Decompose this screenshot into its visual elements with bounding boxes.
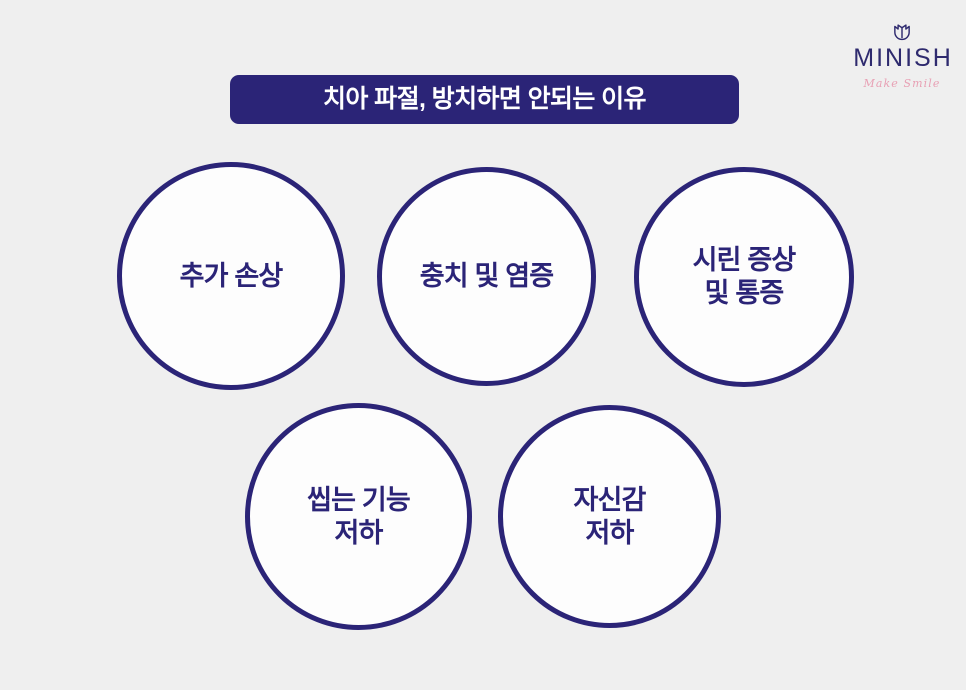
- page-title: 치아 파절, 방치하면 안되는 이유: [323, 87, 646, 112]
- title-banner: 치아 파절, 방치하면 안되는 이유: [230, 75, 739, 124]
- circle-label: 자신감 저하: [563, 484, 655, 550]
- tulip-icon: [889, 18, 915, 44]
- infographic-canvas: MINISH Make Smile 치아 파절, 방치하면 안되는 이유 추가 …: [0, 0, 966, 690]
- circle-item-confidence-decline: 자신감 저하: [498, 405, 721, 628]
- brand-logo: MINISH Make Smile: [846, 18, 958, 98]
- brand-wordmark: MINISH: [846, 46, 958, 71]
- circle-label: 추가 손상: [170, 260, 293, 293]
- circle-label: 시린 증상 및 통증: [683, 244, 806, 310]
- circle-item-additional-damage: 추가 손상: [117, 162, 345, 390]
- circle-item-sensitivity-pain: 시린 증상 및 통증: [634, 167, 854, 387]
- brand-tagline: Make Smile: [846, 78, 958, 89]
- circle-label: 씹는 기능 저하: [297, 484, 420, 550]
- circle-item-cavity-inflammation: 충치 및 염증: [377, 167, 596, 386]
- circle-item-chewing-function-decline: 씹는 기능 저하: [245, 403, 472, 630]
- circle-label: 충치 및 염증: [410, 260, 564, 293]
